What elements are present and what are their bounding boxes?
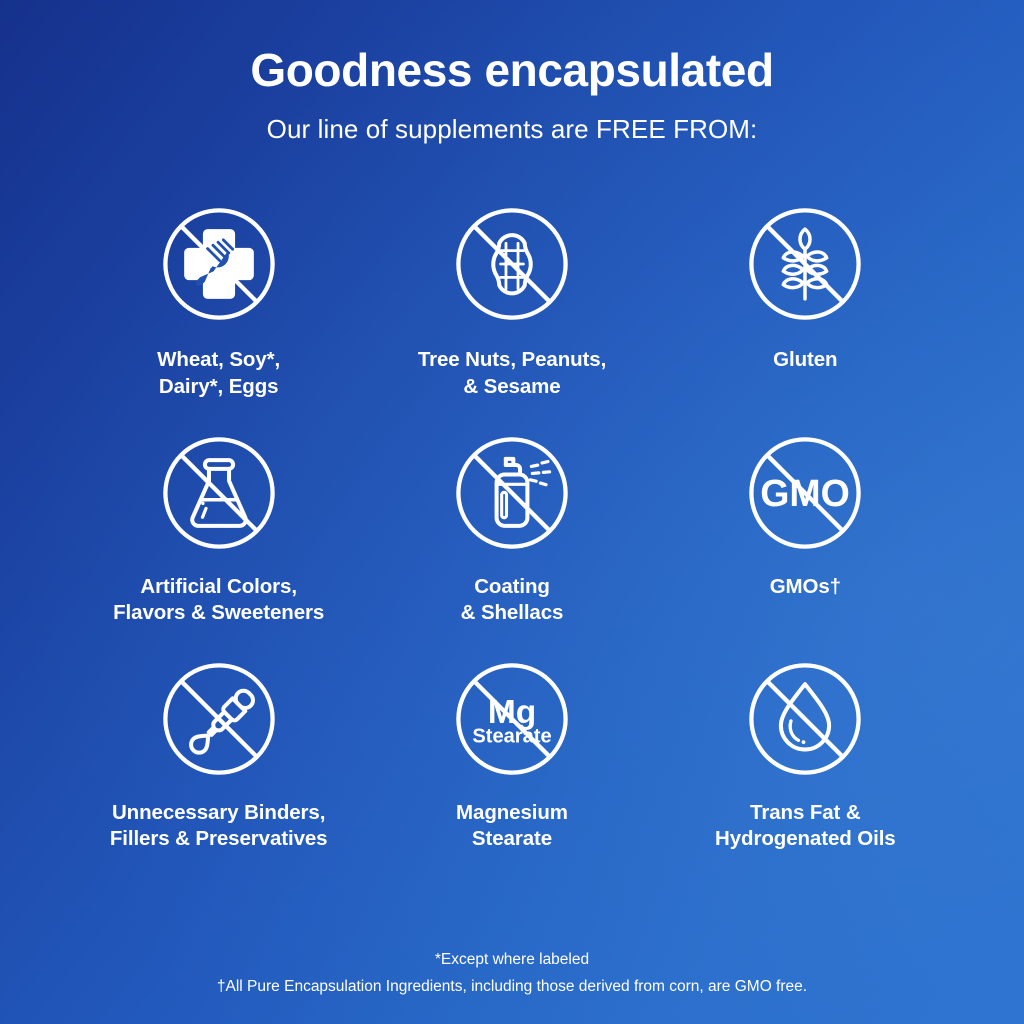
- page-title: Goodness encapsulated: [0, 46, 1024, 94]
- free-from-item-label: GMOs†: [770, 574, 841, 600]
- no-wheat-stalk-icon: [738, 197, 872, 331]
- stearate-icon-text: Stearate: [472, 726, 551, 748]
- header: Goodness encapsulated Our line of supple…: [0, 0, 1024, 145]
- gmo-icon-text: GMO: [761, 472, 851, 514]
- free-from-item-label: Wheat, Soy*, Dairy*, Eggs: [157, 347, 280, 399]
- free-from-item-wheat-soy-dairy-eggs: Wheat, Soy*, Dairy*, Eggs: [72, 187, 365, 399]
- no-dropper-icon: [152, 652, 286, 786]
- free-from-item-label: Coating & Shellacs: [461, 574, 564, 626]
- free-from-item-label: Artificial Colors, Flavors & Sweeteners: [113, 574, 324, 626]
- page-subtitle: Our line of supplements are FREE FROM:: [0, 114, 1024, 145]
- free-from-item-tree-nuts-peanuts-sesame: Tree Nuts, Peanuts, & Sesame: [365, 187, 658, 399]
- footnote-dagger: †All Pure Encapsulation Ingredients, inc…: [0, 975, 1024, 998]
- free-from-grid: Wheat, Soy*, Dairy*, Eggs: [72, 187, 952, 852]
- no-fork-cross-icon: [152, 197, 286, 331]
- free-from-item-trans-fat-hydrogenated-oils: Trans Fat & Hydrogenated Oils: [659, 642, 952, 852]
- free-from-item-coating-shellacs: Coating & Shellacs: [365, 416, 658, 626]
- no-gmo-icon: GMO: [738, 426, 872, 560]
- free-from-item-gmos: GMO GMOs†: [659, 416, 952, 626]
- free-from-item-magnesium-stearate: Mg Stearate Magnesium Stearate: [365, 642, 658, 852]
- footnote-asterisk: *Except where labeled: [0, 948, 1024, 971]
- no-magnesium-stearate-icon: Mg Stearate: [445, 652, 579, 786]
- free-from-item-label: Unnecessary Binders, Fillers & Preservat…: [110, 800, 328, 852]
- footnotes: *Except where labeled †All Pure Encapsul…: [0, 948, 1024, 999]
- free-from-item-label: Gluten: [773, 347, 837, 373]
- free-from-item-gluten: Gluten: [659, 187, 952, 399]
- no-flask-icon: [152, 426, 286, 560]
- free-from-item-binders-fillers-preservatives: Unnecessary Binders, Fillers & Preservat…: [72, 642, 365, 852]
- no-water-droplet-icon: [738, 652, 872, 786]
- no-peanut-icon: [445, 197, 579, 331]
- free-from-item-label: Trans Fat & Hydrogenated Oils: [715, 800, 896, 852]
- free-from-item-label: Tree Nuts, Peanuts, & Sesame: [418, 347, 606, 399]
- free-from-item-label: Magnesium Stearate: [456, 800, 568, 852]
- promo-graphic: Goodness encapsulated Our line of supple…: [0, 0, 1024, 1024]
- free-from-item-artificial-colors: Artificial Colors, Flavors & Sweeteners: [72, 416, 365, 626]
- no-spray-can-icon: [445, 426, 579, 560]
